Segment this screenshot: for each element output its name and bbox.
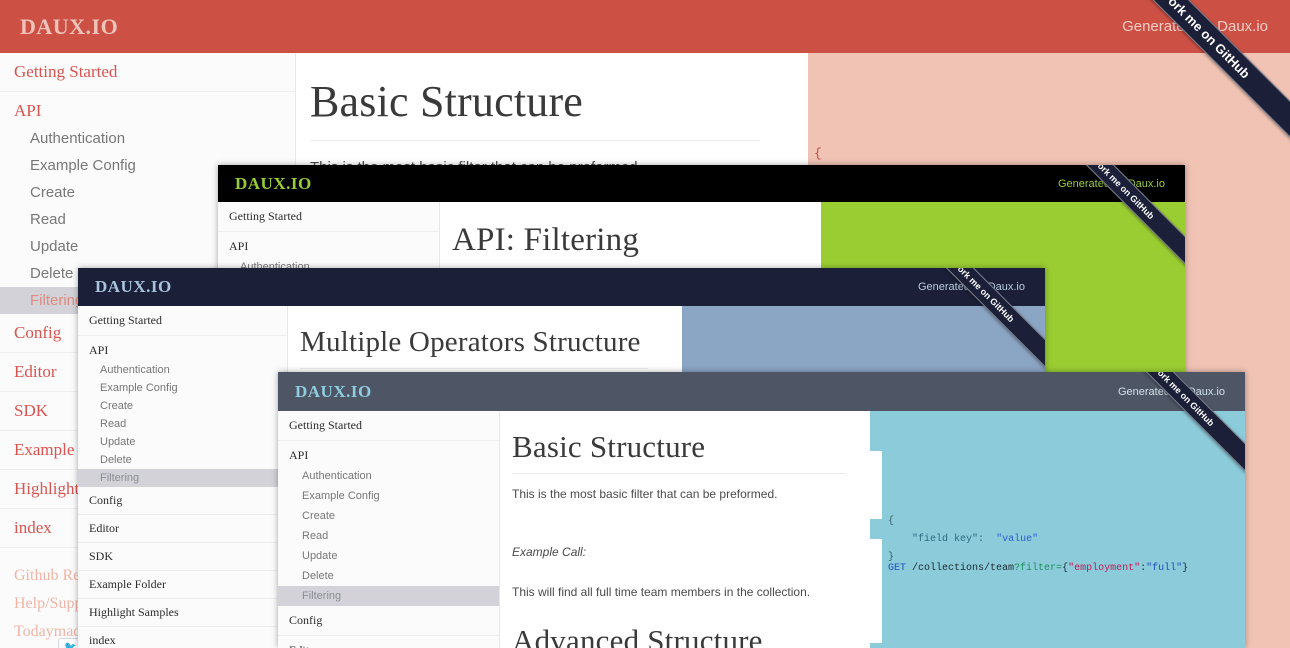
window-4-content: Basic Structure This is the most basic f… bbox=[500, 411, 870, 648]
sidebar-item-filtering[interactable]: Filtering bbox=[278, 586, 499, 606]
sidebar-item-create[interactable]: Create bbox=[78, 397, 287, 415]
window-3-sub-nav: Authentication Example Config Create Rea… bbox=[78, 361, 287, 487]
window-3-title-rule bbox=[300, 368, 648, 369]
window-1-topbar: DAUX.IO Generated by Daux.io bbox=[0, 0, 1290, 53]
window-4-page-title: Basic Structure bbox=[512, 429, 846, 465]
window-1-title-rule bbox=[310, 140, 760, 141]
window-3-brand-logo[interactable]: DAUX.IO bbox=[95, 277, 172, 297]
sidebar-item-config[interactable]: Config bbox=[278, 606, 499, 636]
window-4-nav: Getting Started API Authentication Examp… bbox=[278, 411, 499, 648]
window-3-nav: Getting Started API Authentication Examp… bbox=[78, 306, 287, 648]
sidebar-item-authentication[interactable]: Authentication bbox=[78, 361, 287, 379]
sidebar-item-api[interactable]: API bbox=[218, 232, 439, 257]
window-4-generated-by: Generated by Daux.io bbox=[1118, 386, 1225, 398]
window-3-generated-by: Generated by Daux.io bbox=[918, 281, 1025, 293]
sidebar-item-api[interactable]: API bbox=[278, 441, 499, 466]
sidebar-item-delete[interactable]: Delete bbox=[278, 566, 499, 586]
sidebar-item-getting-started[interactable]: Getting Started bbox=[78, 306, 287, 336]
window-2-page-title: API: Filtering bbox=[452, 222, 784, 260]
window-1-brand-logo[interactable]: DAUX.IO bbox=[20, 14, 118, 40]
window-3-sidebar[interactable]: Getting Started API Authentication Examp… bbox=[78, 306, 288, 648]
window-4-code-block-2: { bbox=[888, 643, 936, 648]
sidebar-item-example-config[interactable]: Example Config bbox=[278, 486, 499, 506]
window-4-topbar: DAUX.IO Generated by Daux.io bbox=[278, 372, 1245, 411]
window-2-topbar: DAUX.IO Generated by Daux.io bbox=[218, 165, 1185, 202]
sidebar-item-update[interactable]: Update bbox=[278, 546, 499, 566]
sidebar-item-getting-started[interactable]: Getting Started bbox=[0, 53, 295, 92]
window-3-topbar: DAUX.IO Generated by Daux.io bbox=[78, 268, 1045, 306]
twitter-bird-icon: 🐦 bbox=[64, 642, 76, 648]
window-4-intro-text: This is the most basic filter that can b… bbox=[512, 487, 846, 501]
sidebar-item-example-config[interactable]: Example Config bbox=[78, 379, 287, 397]
screenshot-stage: DAUX.IO Generated by Daux.io Getting Sta… bbox=[0, 0, 1290, 648]
sidebar-item-highlight-samples[interactable]: Highlight Samples bbox=[78, 599, 287, 627]
sidebar-item-update[interactable]: Update bbox=[78, 433, 287, 451]
window-4-slate[interactable]: DAUX.IO Generated by Daux.io Getting Sta… bbox=[278, 372, 1245, 648]
sidebar-item-api[interactable]: API bbox=[0, 92, 295, 125]
window-4-code-panel-1 bbox=[870, 411, 1245, 451]
sidebar-item-api[interactable]: API bbox=[78, 336, 287, 361]
window-4-sub-nav: Authentication Example Config Create Rea… bbox=[278, 466, 499, 606]
window-3-page-title: Multiple Operators Structure bbox=[300, 326, 648, 359]
sidebar-item-filtering[interactable]: Filtering bbox=[78, 469, 287, 487]
window-3-api-children: Authentication Example Config Create Rea… bbox=[78, 361, 287, 487]
window-4-code-column: { "field key": "value" } GET /collection… bbox=[870, 411, 1245, 648]
window-4-brand-logo[interactable]: DAUX.IO bbox=[295, 382, 372, 402]
window-2-brand-logo[interactable]: DAUX.IO bbox=[235, 174, 312, 194]
window-1-page-title: Basic Structure bbox=[310, 77, 760, 128]
window-4-body: Getting Started API Authentication Examp… bbox=[278, 411, 1245, 648]
sidebar-item-delete[interactable]: Delete bbox=[78, 451, 287, 469]
window-4-example-note: This will find all full time team member… bbox=[512, 585, 846, 599]
window-4-code-request: GET /collections/team?filter={"employmen… bbox=[888, 560, 1188, 578]
sidebar-item-index[interactable]: index bbox=[78, 627, 287, 648]
window-4-title-rule bbox=[512, 473, 846, 474]
sidebar-item-authentication[interactable]: Authentication bbox=[0, 125, 295, 152]
sidebar-item-example-folder[interactable]: Example Folder bbox=[78, 571, 287, 599]
window-2-generated-by: Generated by Daux.io bbox=[1058, 178, 1165, 190]
sidebar-item-authentication[interactable]: Authentication bbox=[278, 466, 499, 486]
window-4-sidebar[interactable]: Getting Started API Authentication Examp… bbox=[278, 411, 500, 648]
sidebar-item-getting-started[interactable]: Getting Started bbox=[278, 411, 499, 441]
sidebar-item-getting-started[interactable]: Getting Started bbox=[218, 202, 439, 232]
window-4-example-call-label: Example Call: bbox=[512, 545, 846, 559]
sidebar-item-create[interactable]: Create bbox=[278, 506, 499, 526]
sidebar-item-read[interactable]: Read bbox=[78, 415, 287, 433]
sidebar-item-read[interactable]: Read bbox=[278, 526, 499, 546]
sidebar-item-config[interactable]: Config bbox=[78, 487, 287, 515]
window-1-generated-by: Generated by Daux.io bbox=[1122, 18, 1268, 35]
sidebar-item-editor[interactable]: Editor bbox=[278, 636, 499, 648]
window-4-page-title-2: Advanced Structure bbox=[512, 623, 846, 648]
sidebar-item-editor[interactable]: Editor bbox=[78, 515, 287, 543]
window-4-api-children: Authentication Example Config Create Rea… bbox=[278, 466, 499, 606]
sidebar-item-sdk[interactable]: SDK bbox=[78, 543, 287, 571]
